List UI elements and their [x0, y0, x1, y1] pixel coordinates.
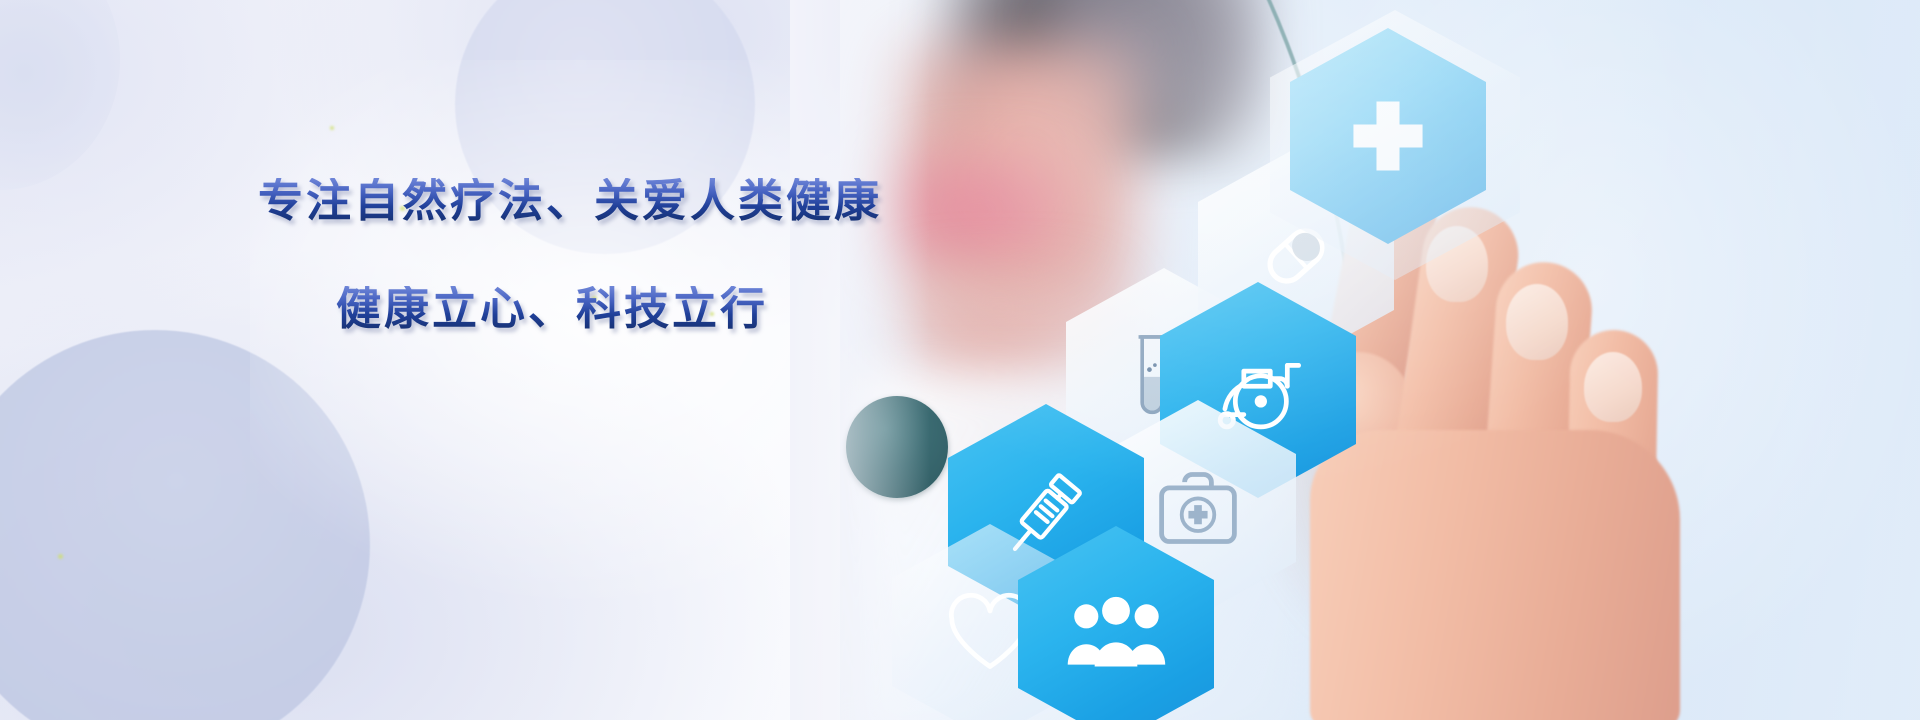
hero-banner: 专注自然疗法、关爱人类健康 健康立心、科技立行 [0, 0, 1920, 720]
sparkle-speck [58, 554, 63, 559]
people-group-icon [1064, 592, 1168, 676]
first-aid-kit-icon [1150, 463, 1246, 553]
hexagon-icon-cluster [840, 0, 1920, 720]
headline-block: 专注自然疗法、关爱人类健康 健康立心、科技立行 [258, 178, 1018, 332]
sparkle-speck [330, 126, 334, 130]
headline-line-2: 健康立心、科技立行 [336, 286, 1018, 332]
headline-line-1: 专注自然疗法、关爱人类健康 [258, 178, 1018, 224]
hero-photo [840, 0, 1920, 720]
